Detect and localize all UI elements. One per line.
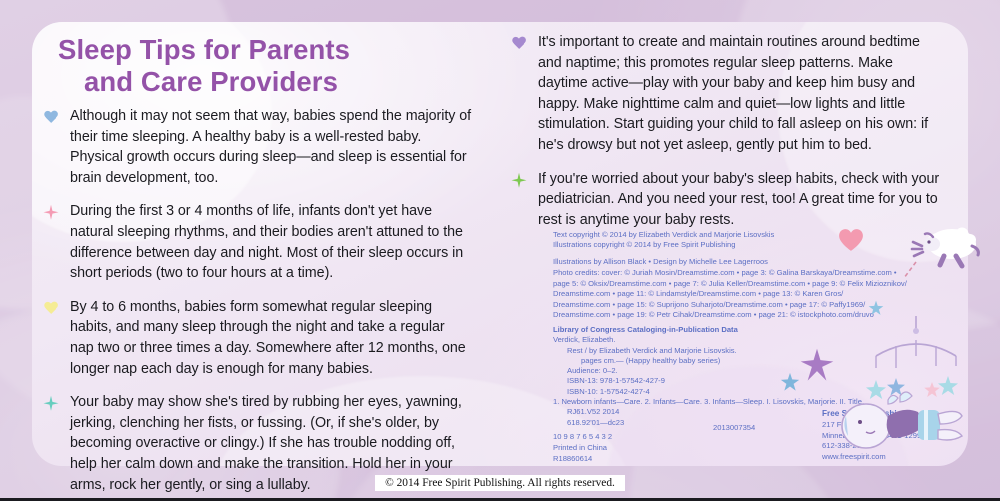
page-title: Sleep Tips for Parents and Care Provider… [58, 34, 458, 98]
page-title-line-1: Sleep Tips for Parents [58, 34, 350, 65]
publisher-phone: 612-338-2068 [822, 441, 982, 452]
photo-credit-line: Dreamstime.com • page 15: © Suprijono Su… [553, 300, 948, 311]
footer-copyright: © 2014 Free Spirit Publishing. All right… [375, 475, 625, 491]
heart-icon [40, 108, 70, 130]
loc-line: 1. Newborn infants—Care. 2. Infants—Care… [553, 397, 903, 407]
loc-line: pages cm.— (Happy healthy baby series) [553, 356, 903, 366]
publisher-website[interactable]: www.freespirit.com [822, 452, 982, 463]
print-ref-line: R18860614 [553, 454, 753, 465]
star-icon [40, 394, 70, 416]
star-icon [508, 171, 538, 193]
tip-text: Although it may not seem that way, babie… [70, 106, 472, 188]
loc-line: ISBN-10: 1-57542-427-4 [553, 387, 903, 397]
tip-text: During the first 3 or 4 months of life, … [70, 201, 472, 283]
page-title-line-2: and Care Providers [58, 66, 458, 98]
tip-text: By 4 to 6 months, babies form somewhat r… [70, 297, 472, 379]
photo-credit-line: page 5: © Oksix/Dreamstime.com • page 7:… [553, 279, 948, 290]
illustrator-designer-line: Illustrations by Allison Black • Design … [553, 257, 933, 267]
loc-line: Audience: 0–2. [553, 366, 903, 376]
print-codes: 10 9 8 7 6 5 4 3 2 Printed in China R188… [553, 432, 753, 464]
loc-line: Verdick, Elizabeth. [553, 335, 903, 345]
tip-text: If you're worried about your baby's slee… [538, 169, 940, 231]
page-root: Sleep Tips for Parents and Care Provider… [0, 0, 1000, 501]
tip-item: If you're worried about your baby's slee… [508, 169, 940, 231]
photo-credit-line: Dreamstime.com • page 19: © Petr Cihak/D… [553, 310, 948, 321]
heart-icon [40, 299, 70, 321]
tip-item: Although it may not seem that way, babie… [40, 106, 472, 188]
publisher-address-2: Minneapolis, MN 55401-1299 [822, 431, 982, 442]
illustration-copyright-line: Illustrations copyright © 2014 by Free S… [553, 240, 933, 250]
publisher-block: Free Spirit Publishing 217 Fifth Avenue … [822, 409, 982, 463]
tip-item: By 4 to 6 months, babies form somewhat r… [40, 297, 472, 379]
star-icon [40, 203, 70, 225]
photo-credits: Photo credits: cover: © Juriah Mosin/Dre… [553, 268, 948, 321]
copyright-credits: Text copyright © 2014 by Elizabeth Verdi… [553, 230, 933, 267]
loc-heading: Library of Congress Cataloging-in-Public… [553, 325, 903, 335]
publisher-name: Free Spirit Publishing [822, 409, 982, 420]
text-copyright-line: Text copyright © 2014 by Elizabeth Verdi… [553, 230, 933, 240]
loc-line: ISBN-13: 978-1-57542-427-9 [553, 376, 903, 386]
footer-bar: © 2014 Free Spirit Publishing. All right… [0, 465, 1000, 501]
tip-item: During the first 3 or 4 months of life, … [40, 201, 472, 283]
loc-line: Rest / by Elizabeth Verdick and Marjorie… [553, 346, 903, 356]
publisher-address-1: 217 Fifth Avenue North, Suite 200 [822, 420, 982, 431]
heart-icon [508, 34, 538, 56]
right-tips-list: It's important to create and maintain ro… [508, 32, 940, 243]
tip-text: It's important to create and maintain ro… [538, 32, 940, 156]
printed-in-line: Printed in China [553, 443, 753, 454]
tip-item: It's important to create and maintain ro… [508, 32, 940, 156]
print-run-line: 10 9 8 7 6 5 4 3 2 [553, 432, 753, 443]
photo-credit-line: Dreamstime.com • page 11: © Lindamstyle/… [553, 289, 948, 300]
photo-credit-line: Photo credits: cover: © Juriah Mosin/Dre… [553, 268, 948, 279]
left-tips-list: Although it may not seem that way, babie… [40, 106, 472, 501]
